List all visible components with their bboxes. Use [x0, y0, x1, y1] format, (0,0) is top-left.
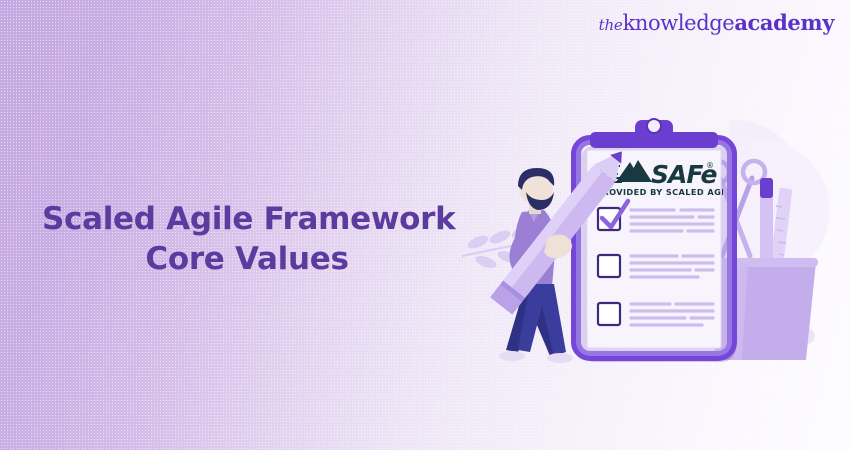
banner: theknowledgeacademy Scaled Agile Framewo… [0, 0, 850, 450]
clipboard-group: SAFe ® PROVIDED BY SCALED AGILE [576, 119, 736, 362]
checkbox-3 [598, 303, 620, 325]
brand-logo[interactable]: theknowledgeacademy [599, 12, 834, 34]
logo-academy-text: academy [734, 10, 834, 35]
safe-registered-mark: ® [706, 161, 714, 170]
logo-the-text: the [599, 16, 623, 34]
logo-knowledge-text: knowledge [623, 11, 735, 35]
checkbox-2 [598, 255, 620, 277]
clipboard-clip-icon [590, 119, 718, 148]
safe-tagline: PROVIDED BY SCALED AGILE [596, 187, 736, 197]
hero-illustration: SAFe ® PROVIDED BY SCALED AGILE [430, 60, 850, 410]
person-hand [544, 234, 572, 258]
person-shoe-back [499, 351, 525, 361]
person-shoe-front [547, 353, 573, 363]
